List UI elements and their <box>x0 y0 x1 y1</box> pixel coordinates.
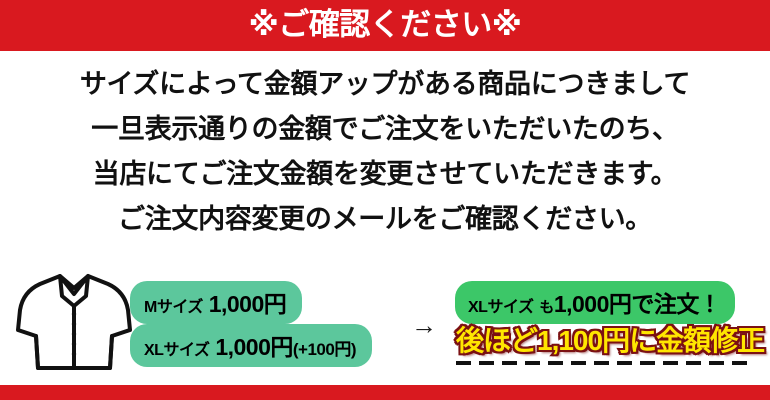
pill-xl-amount: 1,000円 <box>215 334 293 360</box>
pill-order-suffix: で注文 <box>631 291 699 317</box>
notice-line-3: 当店にてご注文金額を変更させていただきます。 <box>0 152 770 197</box>
dashed-underline <box>456 361 754 365</box>
price-pill-xl-size: XLサイズ 1,000円(+100円) <box>130 324 372 367</box>
pill-order-size-label: XLサイズ <box>468 299 533 316</box>
notice-body: サイズによって金額アップがある商品につきまして 一旦表示通りの金額でご注文をいた… <box>0 62 770 242</box>
pill-xl-size-label: XLサイズ <box>144 342 209 359</box>
price-pill-xl-order: XLサイズ も1,000円で注文！ <box>455 281 735 324</box>
pill-xl-surcharge: (+100円) <box>293 340 356 359</box>
notice-line-1: サイズによって金額アップがある商品につきまして <box>0 62 770 107</box>
notice-line-2: 一旦表示通りの金額でご注文をいただいたのち、 <box>0 107 770 152</box>
dress-shirt-icon <box>16 268 132 374</box>
notice-banner: ※ご確認ください※ サイズによって金額アップがある商品につきまして 一旦表示通り… <box>0 0 770 400</box>
right-arrow-icon: → <box>400 312 448 338</box>
price-pill-m-size: Mサイズ 1,000円 <box>130 281 302 324</box>
footer-red-bar <box>0 385 770 400</box>
pill-m-size-label: Mサイズ <box>144 299 203 316</box>
pill-m-amount: 1,000円 <box>209 291 287 317</box>
pill-order-particle: も <box>539 299 554 316</box>
pill-order-amount: 1,000円 <box>554 291 632 317</box>
notice-line-4: ご注文内容変更のメールをご確認ください。 <box>0 197 770 242</box>
pill-order-exclamation: ！ <box>699 292 721 317</box>
price-comparison: Mサイズ 1,000円 XLサイズ 1,000円(+100円) → XLサイズ … <box>0 262 770 380</box>
price-correction-note: 後ほど1,100円に金額修正 <box>456 324 756 358</box>
page-title: ※ご確認ください※ <box>0 0 770 51</box>
